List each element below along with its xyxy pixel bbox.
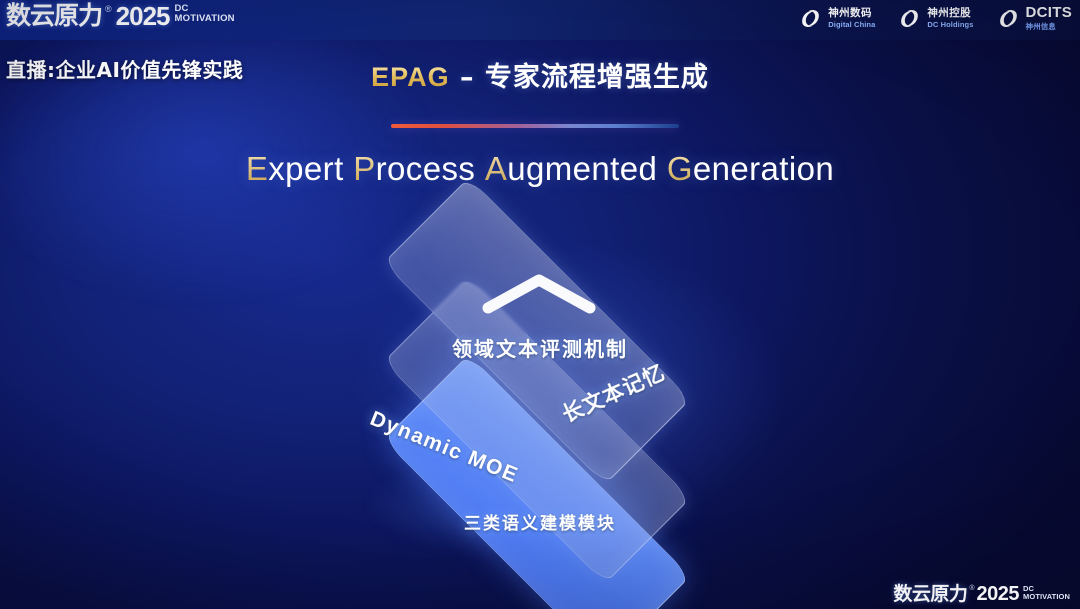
watermark-year: 2025 — [977, 584, 1020, 604]
slide-canvas: 数云原力 ® 2025 DC MOTIVATION 直播:企业AI价值先锋实践 … — [0, 0, 1080, 609]
watermark-brand-cn: 数云原力 — [893, 584, 967, 604]
background-vignette — [0, 0, 1080, 609]
watermark-registered-mark: ® — [969, 584, 974, 593]
footer-watermark: 数云原力 ® 2025 DC MOTIVATION — [893, 584, 1070, 604]
watermark-motivation-label: MOTIVATION — [1023, 593, 1070, 601]
watermark-dc-motivation: DC MOTIVATION — [1023, 585, 1070, 601]
